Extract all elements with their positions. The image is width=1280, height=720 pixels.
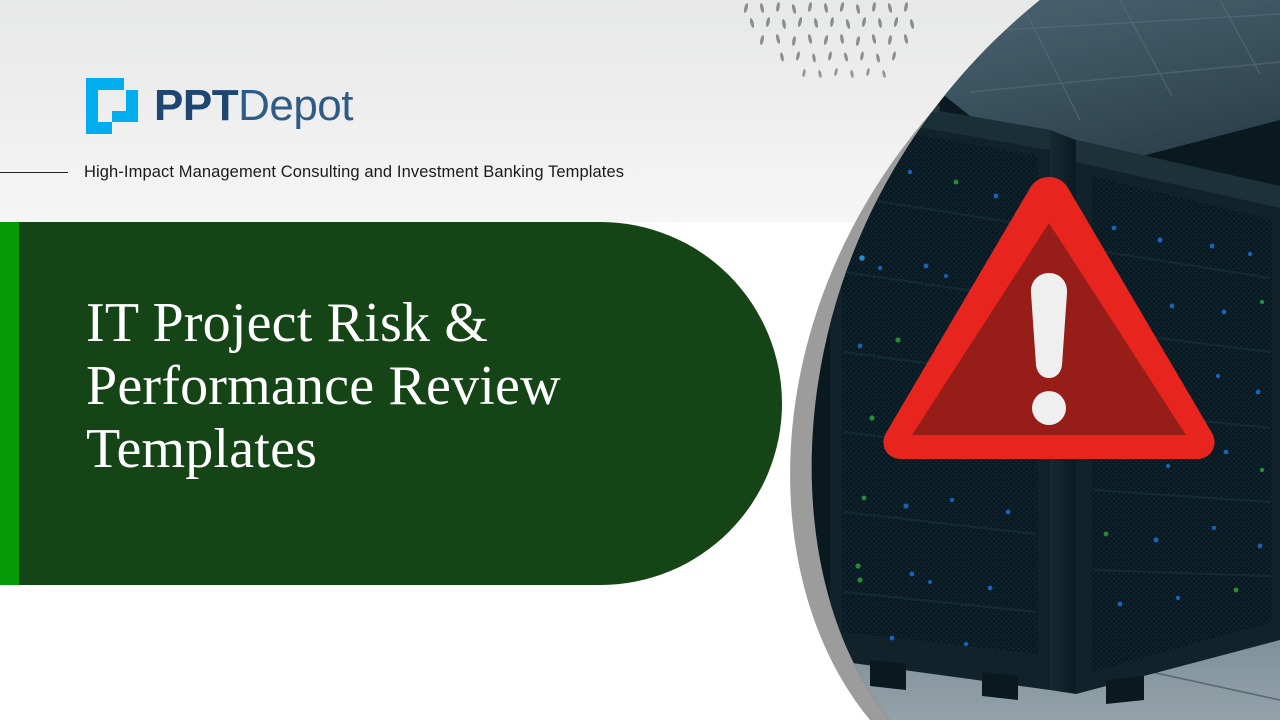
slide-root: PPTDepot High-Impact Management Consulti… <box>0 0 1280 720</box>
tagline-row: High-Impact Management Consulting and In… <box>0 163 760 182</box>
decorative-tick-pattern <box>738 0 918 92</box>
tagline-divider <box>0 172 68 173</box>
ppt-depot-logo-mark-icon <box>86 78 138 134</box>
warning-triangle-exclamation-icon <box>874 165 1224 465</box>
brand-logo[interactable]: PPTDepot <box>86 78 353 134</box>
brand-wordmark: PPTDepot <box>154 84 353 128</box>
accent-bar <box>0 222 19 585</box>
brand-name-bold: PPT <box>154 81 238 130</box>
page-title: IT Project Risk & Performance Review Tem… <box>86 292 686 482</box>
title-panel: IT Project Risk & Performance Review Tem… <box>0 222 782 585</box>
brand-name-light: Depot <box>238 81 353 130</box>
brand-tagline: High-Impact Management Consulting and In… <box>84 163 624 182</box>
